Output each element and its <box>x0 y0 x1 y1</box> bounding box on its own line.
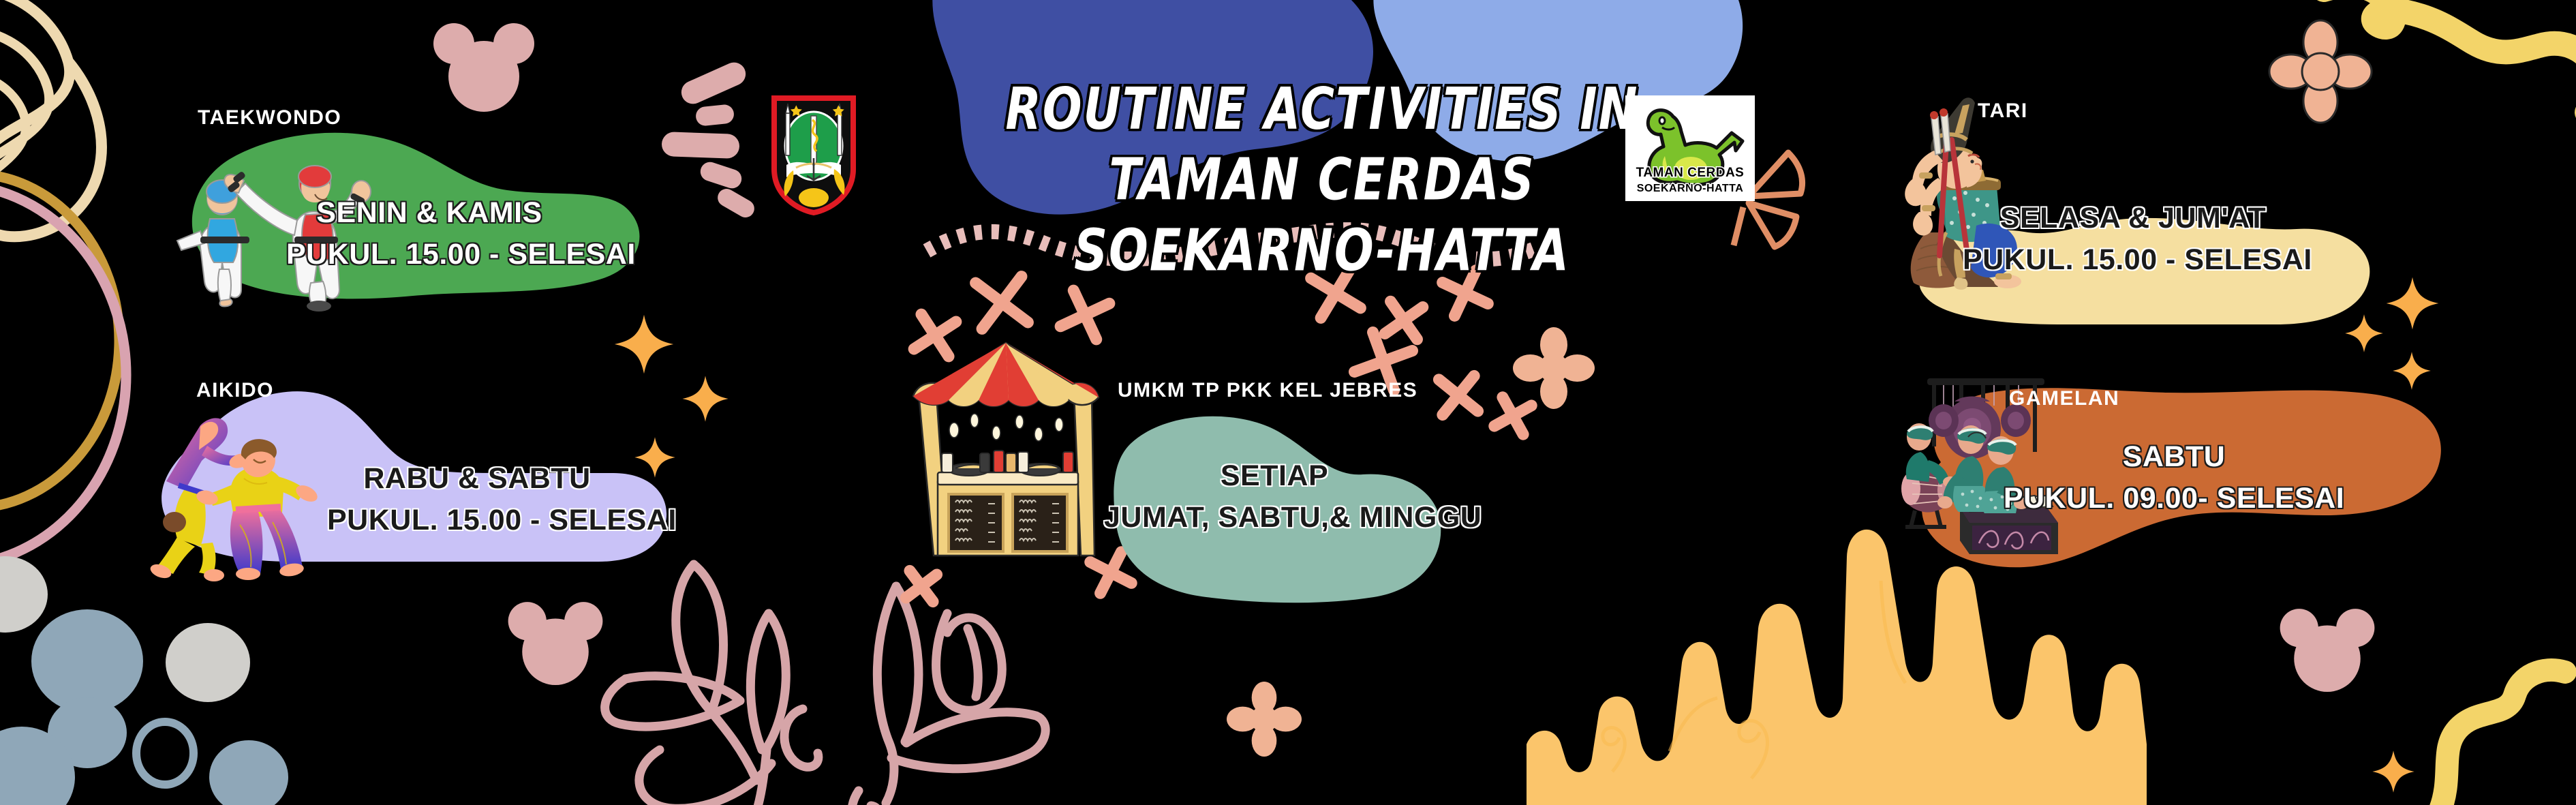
sparkle-icon <box>2372 750 2415 793</box>
mouse-head-icon <box>429 14 538 123</box>
activity-schedule-gamelan: SABTU PUKUL. 09.00- SELESAI <box>1997 436 2351 519</box>
activity-schedule-aikido: RABU & SABTU PUKUL. 15.00 - SELESAI <box>327 458 627 541</box>
sparkle-icon <box>681 375 729 423</box>
activity-days-gamelan: SABTU <box>1997 436 2351 478</box>
flower-icon <box>1227 682 1302 757</box>
activity-days-umkm: SETIAP <box>1104 455 1445 497</box>
activity-schedule-tari: SELASA & JUM'AT PUKUL. 15.00 - SELESAI <box>1963 198 2303 281</box>
activity-title-gamelan: GAMELAN <box>2009 387 2119 410</box>
page-title: ROUTINE ACTIVITIES IN TAMAN CERDAS SOEKA… <box>940 75 1704 287</box>
sparkle-icon <box>2385 276 2440 331</box>
headline-line-2: TAMAN CERDAS SOEKARNO-HATTA <box>940 146 1704 287</box>
headline-line-1: ROUTINE ACTIVITIES IN <box>1005 76 1638 143</box>
mouse-head-icon <box>2276 600 2378 702</box>
routine-activities-banner: ROUTINE ACTIVITIES IN TAMAN CERDAS SOEKA… <box>0 0 2576 805</box>
activity-title-umkm: UMKM TP PKK KEL JEBRES <box>1118 379 1417 402</box>
activity-time-gamelan: PUKUL. 09.00- SELESAI <box>1997 478 2351 519</box>
taman-cerdas-dinosaur-logo: TAMAN CERDAS SOEKARNO-HATTA <box>1625 95 1755 201</box>
activity-time-umkm: JUMAT, SABTU,& MINGGU <box>1104 497 1445 538</box>
activity-title-tari: TARI <box>1978 100 2028 123</box>
food-stall-tent-illustration <box>893 331 1124 576</box>
activity-title-aikido: AIKIDO <box>196 379 274 402</box>
logo-line-1: TAMAN CERDAS <box>1625 166 1755 181</box>
activity-title-taekwondo: TAEKWONDO <box>198 106 341 130</box>
decor-circles-cluster <box>0 545 463 805</box>
sparkle-icon <box>613 314 675 375</box>
activity-schedule-taekwondo: SENIN & KAMIS PUKUL. 15.00 - SELESAI <box>286 192 572 275</box>
activity-days-aikido: RABU & SABTU <box>327 458 627 500</box>
flower-icon <box>2269 20 2372 123</box>
mouse-head-icon <box>504 593 607 695</box>
ribbon-wave-yellow-lower <box>2426 668 2576 805</box>
activity-schedule-umkm: SETIAP JUMAT, SABTU,& MINGGU <box>1104 455 1445 538</box>
activity-time-taekwondo: PUKUL. 15.00 - SELESAI <box>286 234 572 275</box>
logo-line-2: SOEKARNO-HATTA <box>1625 183 1755 195</box>
activity-days-taekwondo: SENIN & KAMIS <box>286 192 572 234</box>
activity-days-tari: SELASA & JUM'AT <box>1963 198 2303 239</box>
surakarta-city-emblem <box>769 95 859 215</box>
activity-time-aikido: PUKUL. 15.00 - SELESAI <box>327 500 627 541</box>
activity-time-tari: PUKUL. 15.00 - SELESAI <box>1963 239 2303 281</box>
confetti-burst-icon <box>651 65 780 208</box>
